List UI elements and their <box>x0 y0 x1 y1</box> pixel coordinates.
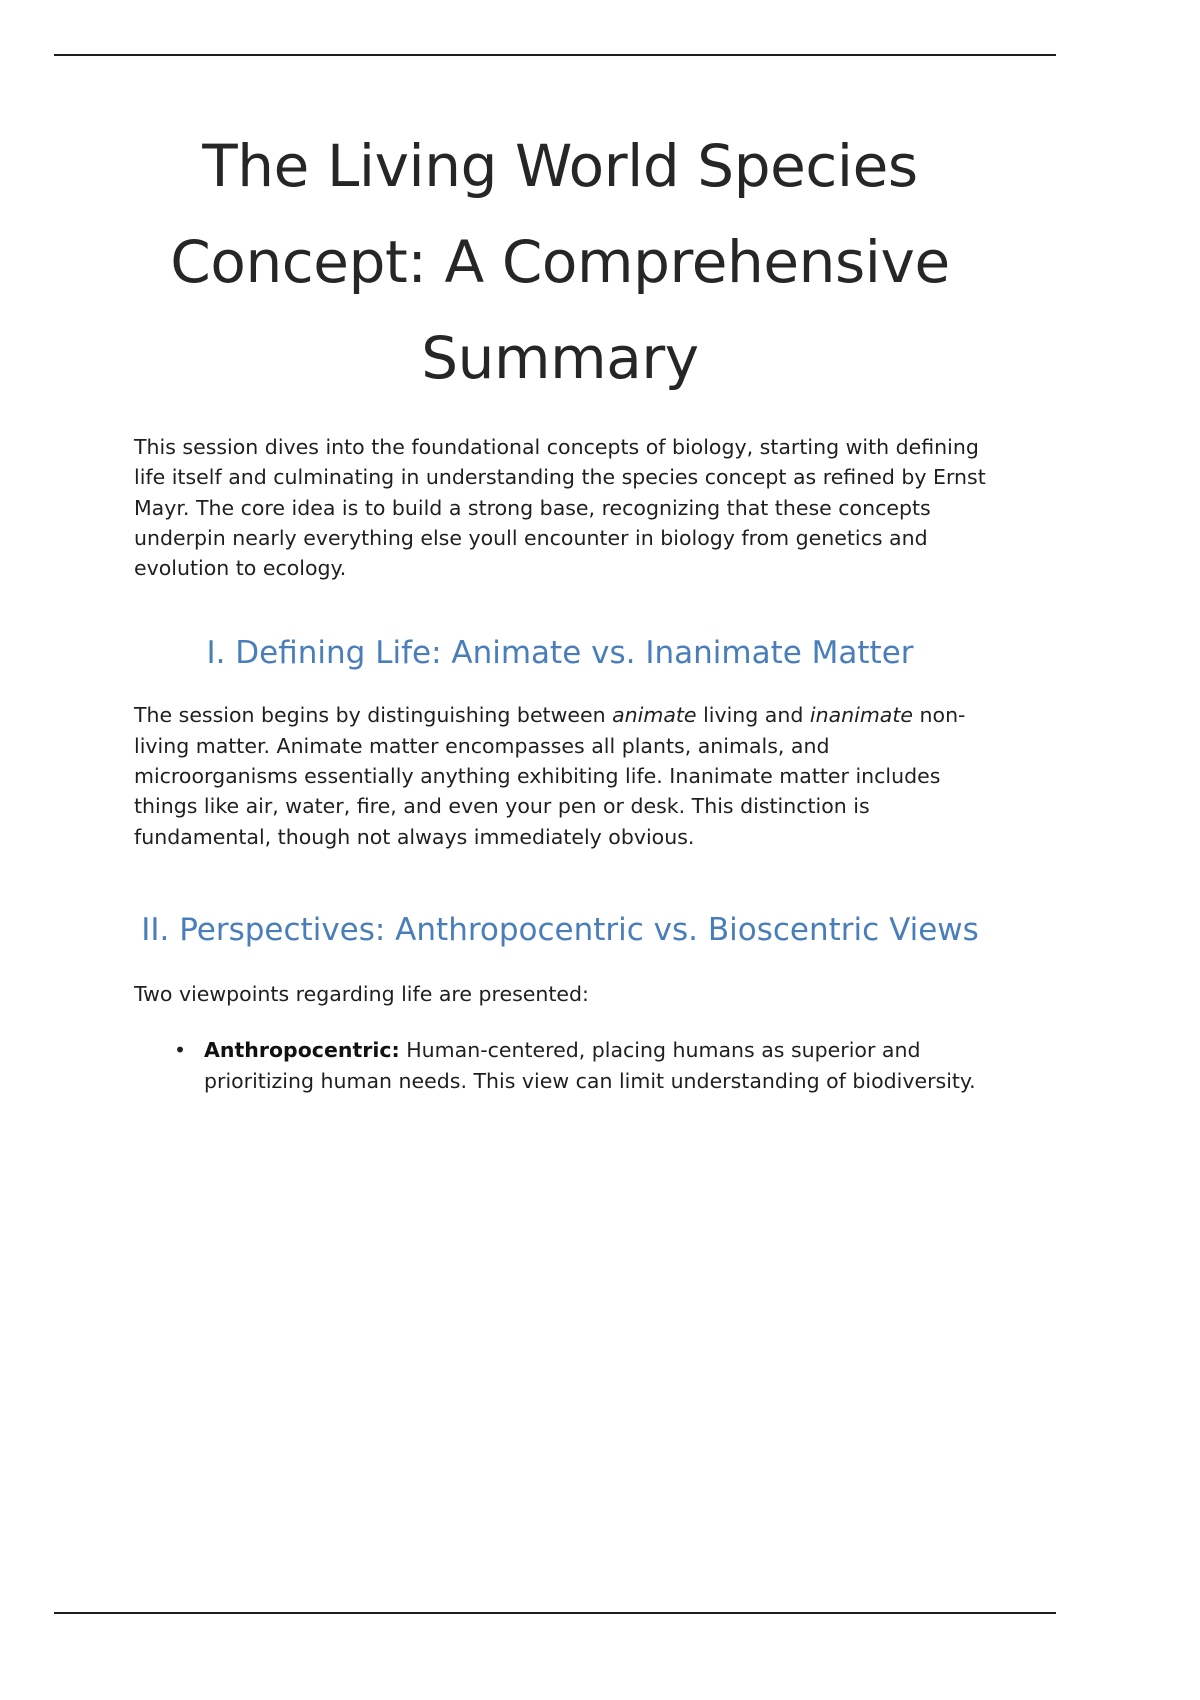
section-1-text-part-2: living and <box>697 703 810 727</box>
page-bottom-rule <box>54 1612 1056 1614</box>
section-heading-2: II. Perspectives: Anthropocentric vs. Bi… <box>134 904 986 957</box>
bullet-term-anthropocentric: Anthropocentric: <box>204 1038 400 1062</box>
bullet-dot-icon: • <box>174 1035 186 1065</box>
section-1-text-part-1: The session begins by distinguishing bet… <box>134 703 612 727</box>
page-top-rule <box>54 54 1056 56</box>
section-1-paragraph: The session begins by distinguishing bet… <box>134 700 986 851</box>
page-title: The Living World Species Concept: A Comp… <box>134 118 986 406</box>
section-1-italic-inanimate: inanimate <box>810 703 913 727</box>
section-2-lead-in: Two viewpoints regarding life are presen… <box>134 979 986 1009</box>
document-page: The Living World Species Concept: A Comp… <box>0 0 1200 1700</box>
viewpoints-list: •Anthropocentric: Human-centered, placin… <box>134 1035 986 1096</box>
document-content: The Living World Species Concept: A Comp… <box>134 118 986 1096</box>
list-item: •Anthropocentric: Human-centered, placin… <box>168 1035 986 1096</box>
intro-paragraph: This session dives into the foundational… <box>134 432 986 583</box>
section-1-italic-animate: animate <box>612 703 696 727</box>
section-heading-1: I. Defining Life: Animate vs. Inanimate … <box>134 627 986 680</box>
